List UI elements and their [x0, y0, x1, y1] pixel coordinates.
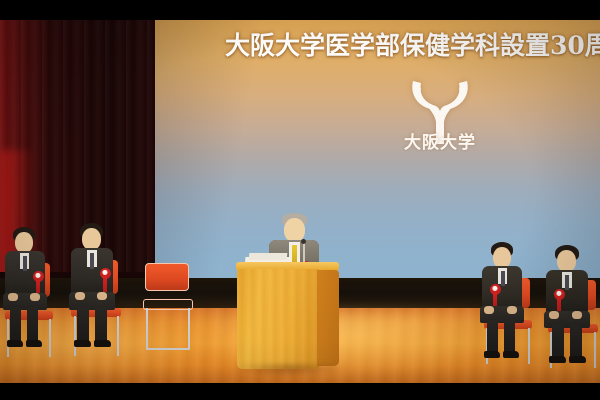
- podium-side-panel: [317, 270, 339, 366]
- shin: [570, 325, 582, 359]
- microphone-head: [301, 239, 306, 244]
- shoe: [94, 340, 111, 347]
- head: [15, 232, 33, 253]
- chair-foot-rail: [146, 348, 190, 350]
- letterbox-bar-bottom: [0, 383, 600, 400]
- shoe: [569, 356, 586, 363]
- hand: [507, 306, 517, 314]
- head: [557, 250, 576, 272]
- shoe: [7, 340, 23, 347]
- letterbox-bar-top: [0, 0, 600, 20]
- hand: [572, 311, 582, 319]
- shoe: [503, 351, 519, 358]
- shin: [487, 320, 498, 354]
- shin: [10, 307, 21, 343]
- shoe: [549, 356, 566, 363]
- head: [82, 228, 101, 250]
- ceremony-photograph: 大阪大学医学部保健学科設置30周年記念 大阪大学: [0, 0, 600, 400]
- shin: [552, 325, 564, 359]
- hand: [30, 293, 40, 301]
- hand: [484, 306, 494, 314]
- tie: [23, 256, 27, 271]
- chair-backrest: [145, 263, 189, 291]
- podium-front-panel: [237, 269, 319, 369]
- shin: [95, 307, 107, 343]
- projected-title-text: 大阪大学医学部保健学科設置30周年記念: [225, 26, 600, 62]
- shin: [27, 307, 38, 343]
- head: [493, 247, 511, 268]
- tie: [501, 271, 505, 286]
- podium-floor-shadow: [231, 365, 347, 377]
- chair-seat: [143, 299, 193, 310]
- hand: [75, 292, 85, 300]
- tie: [90, 253, 94, 269]
- shin: [504, 320, 515, 354]
- shoe: [26, 340, 42, 347]
- logo-caption: 大阪大学: [390, 128, 490, 153]
- podium-papers-2: [249, 253, 288, 260]
- shoe: [74, 340, 91, 347]
- hand: [97, 292, 107, 300]
- chair-leg: [146, 308, 148, 350]
- tie: [565, 275, 569, 290]
- shin: [77, 307, 89, 343]
- photo-body: 大阪大学医学部保健学科設置30周年記念 大阪大学: [0, 20, 600, 383]
- chair-leg: [188, 308, 190, 350]
- hand: [549, 311, 559, 319]
- hand: [8, 293, 18, 301]
- shoe: [484, 351, 500, 358]
